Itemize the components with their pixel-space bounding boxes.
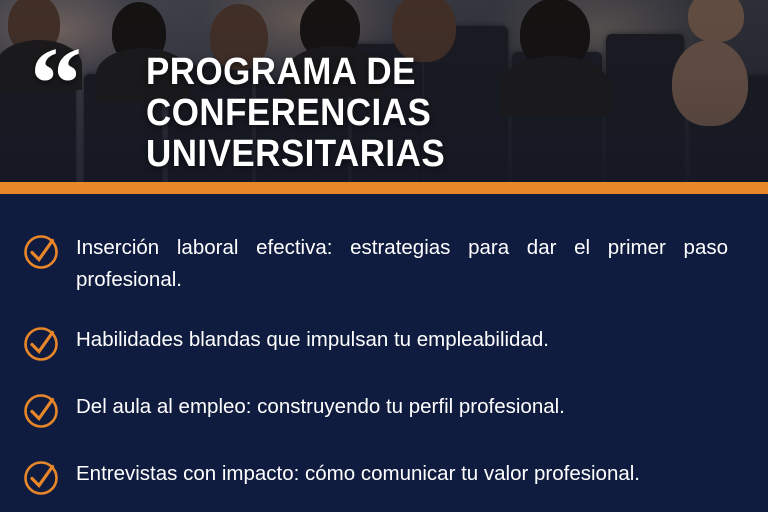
list-item-text: Del aula al empleo: construyendo tu perf…: [76, 391, 565, 423]
list-item: Entrevistas con impacto: cómo comunicar …: [22, 458, 728, 497]
check-circle-icon: [22, 325, 60, 363]
list-item-text: Entrevistas con impacto: cómo comunicar …: [76, 458, 640, 490]
topics-list: Inserción laboral efectiva: estrategias …: [0, 194, 768, 512]
list-item: Habilidades blandas que impulsan tu empl…: [22, 324, 728, 363]
check-circle-icon: [22, 392, 60, 430]
poster-title-block: “ PROGRAMA DE CONFERENCIAS UNIVERSITARIA…: [30, 52, 730, 175]
quotation-mark-icon: “: [30, 54, 80, 114]
check-circle-icon: [22, 459, 60, 497]
page-title-line-2: UNIVERSITARIAS: [146, 134, 683, 175]
list-item-text: Habilidades blandas que impulsan tu empl…: [76, 324, 549, 356]
check-circle-icon: [22, 233, 60, 271]
list-item: Inserción laboral efectiva: estrategias …: [22, 232, 728, 296]
page-title: PROGRAMA DE CONFERENCIAS UNIVERSITARIAS: [146, 52, 683, 175]
list-item-text: Inserción laboral efectiva: estrategias …: [76, 232, 728, 296]
page-title-line-1: PROGRAMA DE CONFERENCIAS: [146, 52, 683, 134]
list-item: Del aula al empleo: construyendo tu perf…: [22, 391, 728, 430]
conference-program-poster: “ PROGRAMA DE CONFERENCIAS UNIVERSITARIA…: [0, 0, 768, 512]
accent-divider: [0, 182, 768, 194]
